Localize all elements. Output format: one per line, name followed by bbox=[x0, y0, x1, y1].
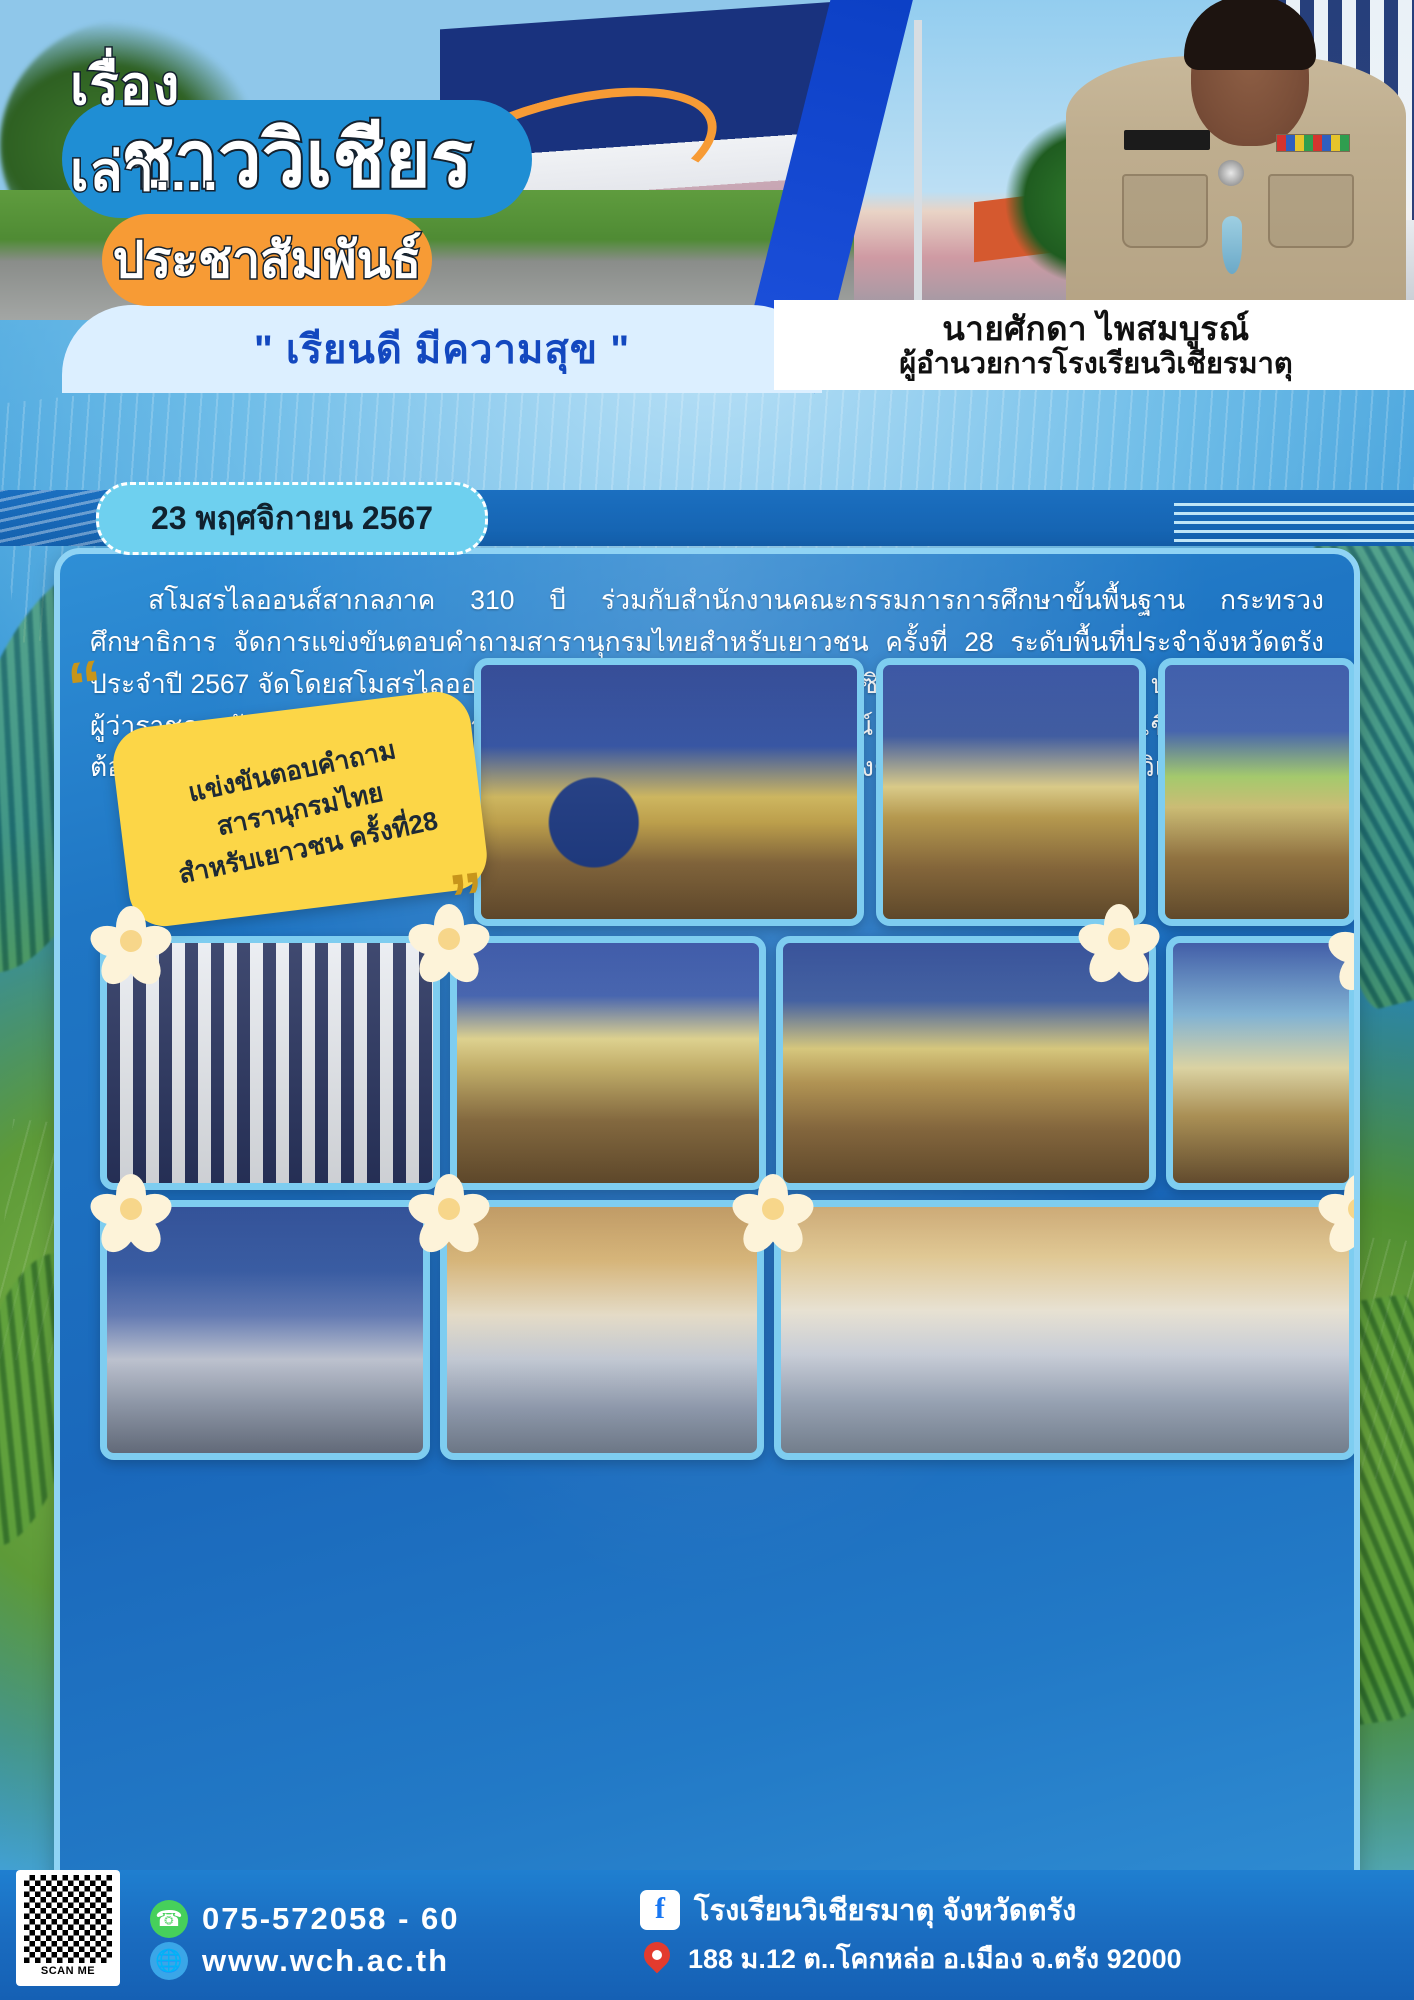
event-photo-2 bbox=[876, 658, 1146, 926]
website-row[interactable]: 🌐 www.wch.ac.th bbox=[150, 1942, 460, 1980]
facebook-icon: f bbox=[640, 1890, 680, 1930]
website-url: www.wch.ac.th bbox=[202, 1943, 449, 1979]
director-role: ผู้อำนวยการโรงเรียนวิเชียรมาตุ bbox=[796, 348, 1396, 381]
contact-info-group: ☎ 075-572058 - 60 🌐 www.wch.ac.th bbox=[150, 1900, 460, 1984]
date-band-stripes bbox=[1174, 498, 1414, 542]
director-hair bbox=[1184, 0, 1316, 70]
flower-decoration-icon bbox=[736, 1172, 810, 1246]
header-banner: เรื่องเล่า.... ชาววิเชียร ประชาสัมพันธ์ … bbox=[0, 0, 1414, 470]
event-photo-3 bbox=[1158, 658, 1356, 926]
footer-contact-bar: SCAN ME ☎ 075-572058 - 60 🌐 www.wch.ac.t… bbox=[0, 1870, 1414, 2000]
eyebrow-text: เรื่องเล่า.... bbox=[70, 42, 219, 214]
qr-code-block[interactable]: SCAN ME bbox=[16, 1870, 120, 1986]
subtitle-pill: ประชาสัมพันธ์ bbox=[102, 214, 432, 306]
motto-bar: " เรียนดี มีความสุข " bbox=[62, 305, 822, 393]
map-pin-icon bbox=[640, 1942, 674, 1976]
uniform-pin bbox=[1222, 216, 1242, 274]
qr-code-label: SCAN ME bbox=[41, 1965, 95, 1977]
school-info-group: f โรงเรียนวิเชียรมาตุ จังหวัดตรัง 188 ม.… bbox=[640, 1887, 1182, 1984]
phone-icon: ☎ bbox=[150, 1900, 188, 1938]
flower-decoration-icon bbox=[1082, 902, 1156, 976]
date-badge: 23 พฤศจิกายน 2567 bbox=[96, 482, 488, 555]
flower-decoration-icon bbox=[1332, 910, 1360, 984]
flower-decoration-icon bbox=[94, 904, 168, 978]
address-row: 188 ม.12 ต..โคกหล่อ อ.เมือง จ.ตรัง 92000 bbox=[640, 1937, 1182, 1980]
event-photo-9 bbox=[440, 1200, 764, 1460]
uniform-pocket-left bbox=[1122, 174, 1208, 248]
event-photo-10 bbox=[774, 1200, 1356, 1460]
subtitle-text: ประชาสัมพันธ์ bbox=[113, 221, 422, 300]
facebook-page-name: โรงเรียนวิเชียรมาตุ จังหวัดตรัง bbox=[694, 1887, 1076, 1933]
director-portrait-photo bbox=[854, 0, 1414, 330]
uniform-nametag bbox=[1124, 130, 1210, 150]
facebook-row[interactable]: f โรงเรียนวิเชียรมาตุ จังหวัดตรัง bbox=[640, 1887, 1182, 1933]
director-figure bbox=[1066, 56, 1406, 330]
uniform-insignia bbox=[1218, 160, 1244, 186]
flagpole bbox=[914, 20, 922, 320]
content-card: สโมสรไลออนส์สากลภาค 310 บี ร่วมกับสำนักง… bbox=[54, 548, 1360, 1908]
school-address: 188 ม.12 ต..โคกหล่อ อ.เมือง จ.ตรัง 92000 bbox=[688, 1937, 1182, 1980]
phone-number: 075-572058 - 60 bbox=[202, 1901, 460, 1937]
uniform-pocket-right bbox=[1268, 174, 1354, 248]
flower-decoration-icon bbox=[412, 902, 486, 976]
poster-root: เรื่องเล่า.... ชาววิเชียร ประชาสัมพันธ์ … bbox=[0, 0, 1414, 2000]
service-ribbon-bar bbox=[1276, 134, 1350, 152]
event-photo-1 bbox=[474, 658, 864, 926]
quote-open-mark: “ bbox=[65, 660, 106, 713]
motto-text: " เรียนดี มีความสุข " bbox=[254, 317, 630, 381]
qr-code-image bbox=[24, 1875, 112, 1963]
flower-decoration-icon bbox=[94, 1172, 168, 1246]
phone-row[interactable]: ☎ 075-572058 - 60 bbox=[150, 1900, 460, 1938]
event-photo-5 bbox=[450, 936, 766, 1190]
event-photo-7 bbox=[1166, 936, 1356, 1190]
flower-decoration-icon bbox=[1322, 1172, 1360, 1246]
flower-decoration-icon bbox=[412, 1172, 486, 1246]
director-name: นายศักดา ไพสมบูรณ์ bbox=[796, 310, 1396, 348]
director-caption: นายศักดา ไพสมบูรณ์ ผู้อำนวยการโรงเรียนวิ… bbox=[796, 310, 1396, 381]
globe-icon: 🌐 bbox=[150, 1942, 188, 1980]
